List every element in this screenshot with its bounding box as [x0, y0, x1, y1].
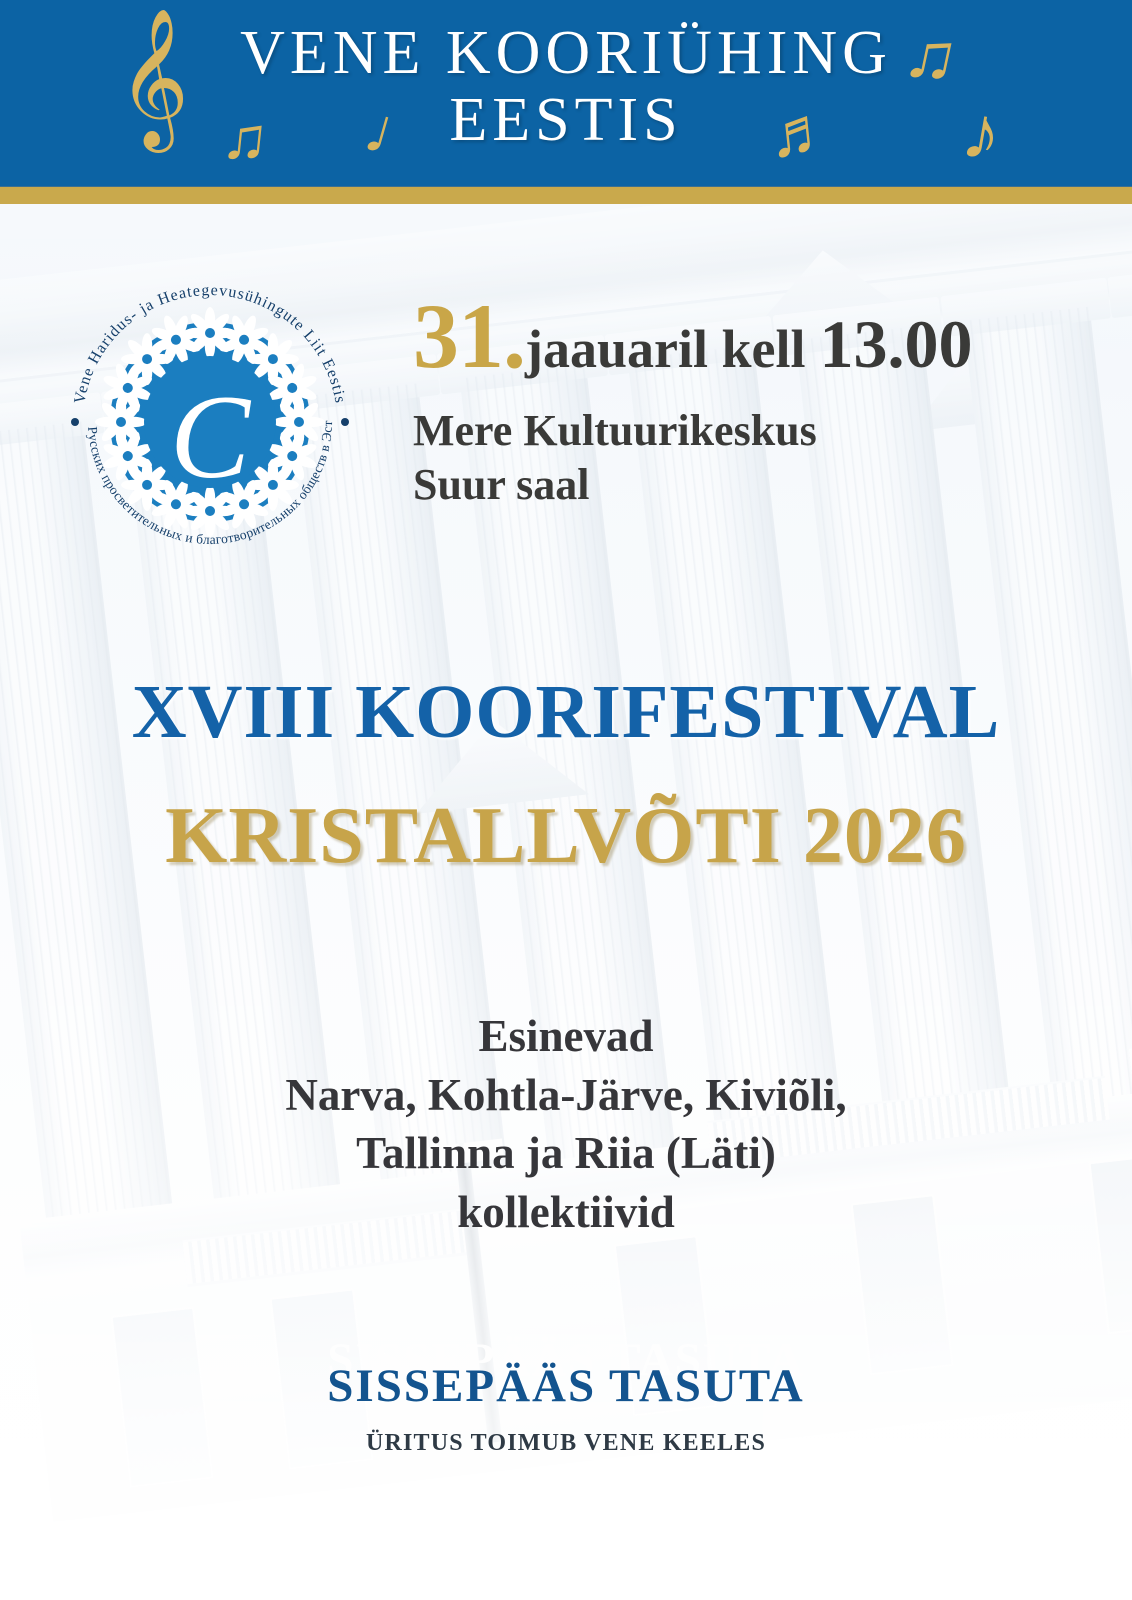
event-venue: Mere Kultuurikeskus Suur saal: [413, 404, 1073, 511]
performers-block: Esinevad Narva, Kohtla-Järve, Kiviõli, T…: [0, 1007, 1132, 1241]
festival-subtitle: KRISTALLVÕTI 2026: [0, 796, 1132, 876]
free-entry-text: SISSEPÄÄS TASUTA: [0, 1359, 1132, 1413]
header-title-line2: EESTIS: [0, 89, 1132, 152]
event-month-label: jaauaril kell: [525, 319, 806, 379]
poster-header: 𝄞 ♫ ♩ ♬ ♫ ♪ VENE KOORIÜHING EESTIS: [0, 0, 1132, 186]
entry-info-block: SISSEPÄÄS TASUTA SISSEPÄÄS TASUTA ÜRITUS…: [0, 1359, 1132, 1457]
gold-divider: [0, 186, 1132, 204]
event-date-line: 31.jaauaril kell 13.00: [413, 290, 1073, 382]
performers-heading: Esinevad: [0, 1007, 1132, 1066]
organisation-emblem: C Vene Haridus- ja Heategevusühingute Li…: [55, 267, 365, 577]
event-time: 13.00: [820, 306, 973, 382]
performers-line-1: Narva, Kohtla-Järve, Kiviõli,: [0, 1066, 1132, 1125]
performers-line-2: Tallinna ja Riia (Läti): [0, 1124, 1132, 1183]
performers-line-3: kollektiivid: [0, 1183, 1132, 1242]
language-note: ÜRITUS TOIMUB VENE KEELES: [0, 1430, 1132, 1457]
venue-line-1: Mere Kultuurikeskus: [413, 404, 1073, 458]
emblem-monogram: C: [170, 370, 252, 503]
header-title: VENE KOORIÜHING EESTIS: [0, 0, 1132, 152]
event-datetime-block: 31.jaauaril kell 13.00 Mere Kultuurikesk…: [413, 290, 1073, 511]
header-title-line1: VENE KOORIÜHING: [240, 19, 892, 87]
poster: 𝄞 ♫ ♩ ♬ ♫ ♪ VENE KOORIÜHING EESTIS: [0, 0, 1132, 1600]
festival-title-block: XVIII KOORIFESTIVAL KRISTALLVÕTI 2026: [0, 674, 1132, 876]
venue-line-2: Suur saal: [413, 458, 1073, 512]
event-day: 31.: [413, 285, 525, 387]
festival-title: XVIII KOORIFESTIVAL: [0, 674, 1132, 750]
